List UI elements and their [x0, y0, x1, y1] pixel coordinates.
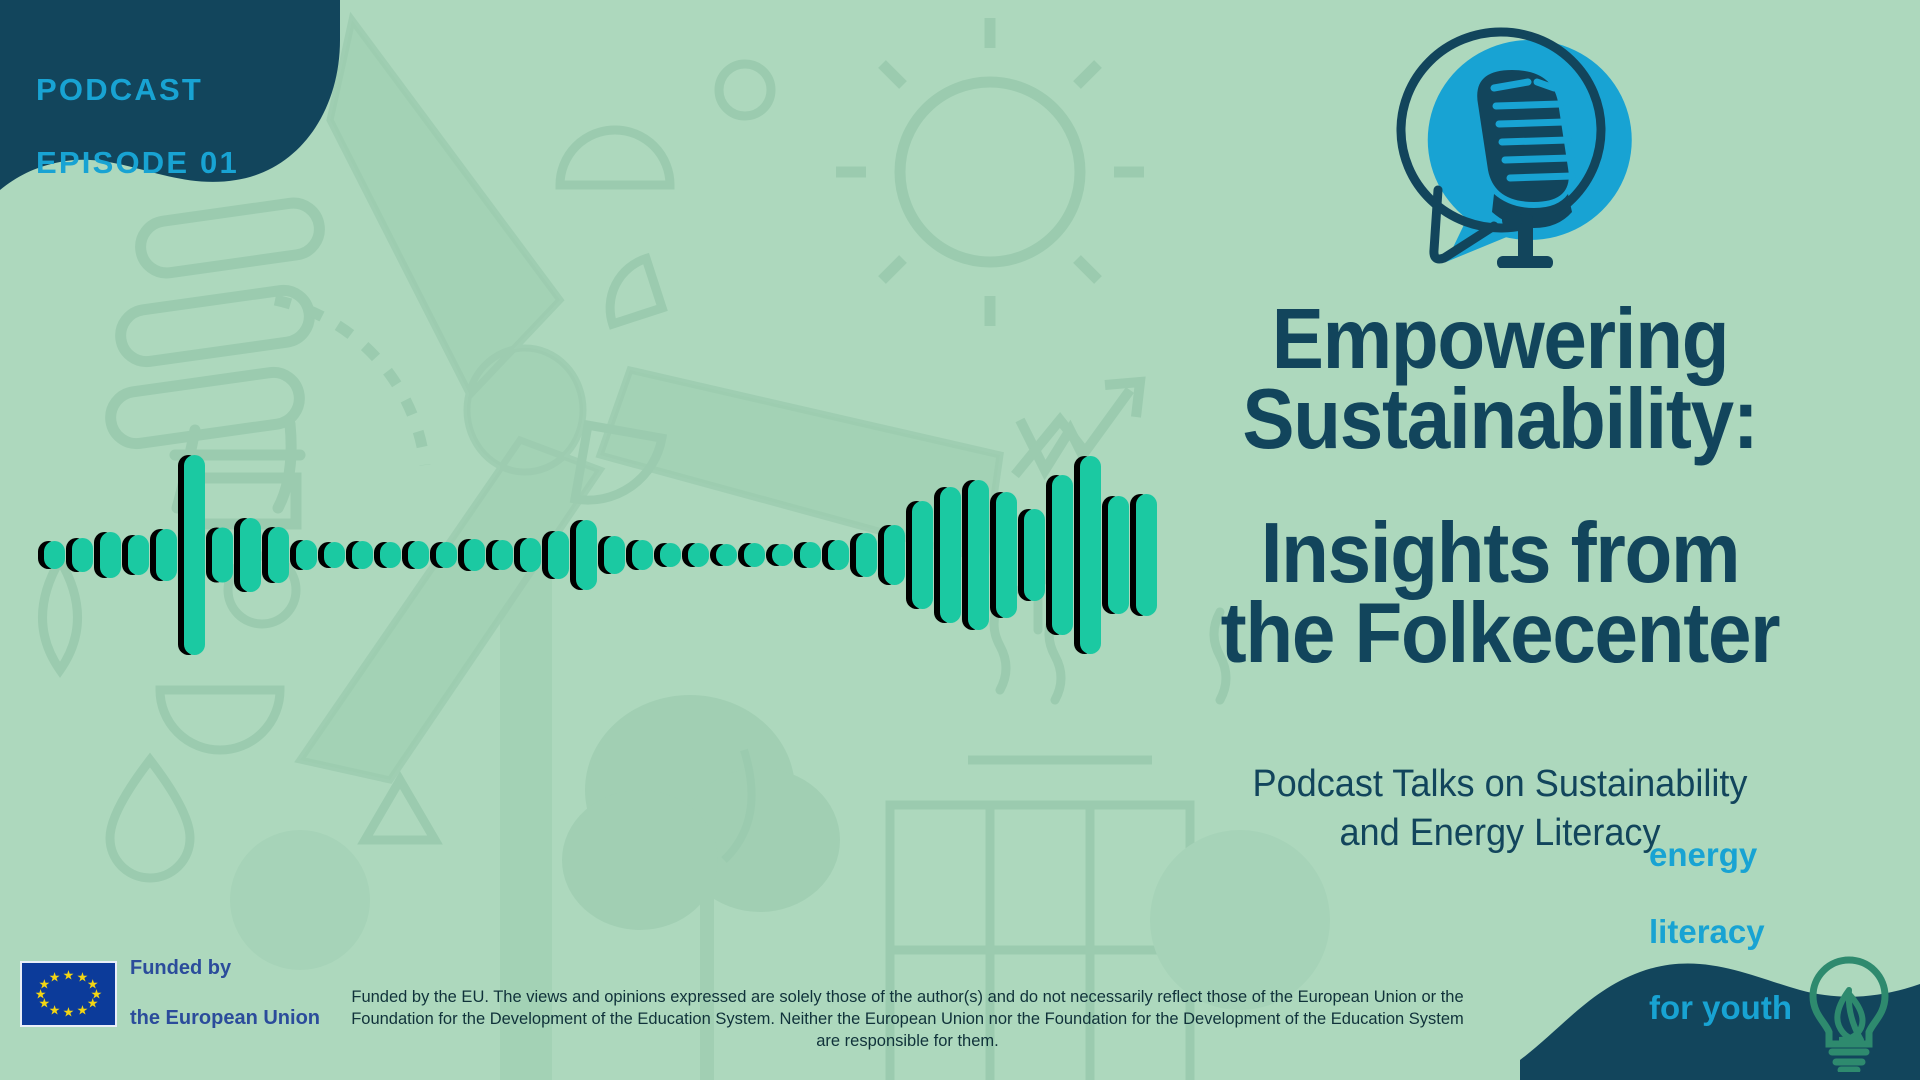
lightbulb-leaf-icon: [1794, 954, 1904, 1072]
waveform-bar-fill: [968, 480, 989, 630]
eu-funding-label: Funded by the European Union: [130, 931, 320, 1056]
waveform-bar-fill: [436, 542, 457, 568]
waveform-bar-fill: [688, 543, 709, 567]
brand-line2: literacy: [1649, 913, 1792, 951]
waveform-bar: [352, 541, 373, 569]
waveform-bar: [184, 455, 205, 655]
waveform-bar-fill: [576, 520, 597, 590]
waveform-bar: [464, 539, 485, 571]
waveform-bar-fill: [716, 544, 737, 566]
waveform-bar-fill: [352, 541, 373, 569]
waveform-bar: [632, 540, 653, 570]
waveform-bar: [744, 543, 765, 567]
waveform-bar: [940, 487, 961, 623]
waveform-bar: [968, 480, 989, 630]
waveform-bar: [212, 528, 233, 583]
eu-star-icon: ★: [87, 996, 99, 1009]
waveform-bar: [296, 540, 317, 570]
waveform-bar: [772, 544, 793, 566]
waveform-bar: [128, 535, 149, 575]
eu-funding-line2: the European Union: [130, 1006, 320, 1031]
waveform-bar: [240, 518, 261, 592]
waveform-bar-fill: [604, 536, 625, 574]
eu-star-icon: ★: [49, 971, 61, 984]
waveform-bar: [996, 492, 1017, 618]
waveform-bar: [688, 543, 709, 567]
funding-disclaimer: Funded by the EU. The views and opinions…: [350, 986, 1465, 1052]
waveform-bar-fill: [492, 540, 513, 570]
waveform-bar: [548, 531, 569, 579]
waveform-bar-fill: [660, 543, 681, 567]
waveform-bar-fill: [632, 540, 653, 570]
title-line-1: Empowering: [1127, 300, 1872, 380]
tree-branch-decor: [724, 750, 752, 860]
eu-star-icon: ★: [49, 1003, 61, 1016]
waveform-bar-fill: [324, 542, 345, 568]
waveform-bar: [520, 538, 541, 572]
waveform-bar: [408, 541, 429, 569]
eu-star-icon: ★: [63, 968, 75, 981]
waveform-bar-fill: [940, 487, 961, 623]
waveform-bar: [716, 544, 737, 566]
eu-funding-block: ★★★★★★★★★★★★ Funded by the European Unio…: [20, 931, 320, 1056]
waveform-bar-fill: [296, 540, 317, 570]
waveform-bar-fill: [912, 501, 933, 609]
episode-badge-line2: EPISODE 01: [36, 145, 239, 181]
waveform-bar: [884, 525, 905, 585]
podcast-cover: PODCAST EPISODE 01: [0, 0, 1920, 1080]
waveform-bar-fill: [548, 531, 569, 579]
waveform-bar-fill: [128, 535, 149, 575]
waveform-bar-fill: [72, 538, 93, 572]
waveform-bar: [492, 540, 513, 570]
waveform-bar: [576, 520, 597, 590]
waveform-bar-fill: [800, 542, 821, 568]
waveform-bar-fill: [520, 538, 541, 572]
waveform-bar-fill: [744, 543, 765, 567]
circle-outline-decor: [719, 64, 771, 116]
waveform-bar: [660, 543, 681, 567]
waveform-bar-fill: [268, 527, 289, 583]
waveform-bar: [380, 542, 401, 568]
brand-line3: for youth: [1649, 989, 1792, 1027]
waveform-bar-fill: [212, 528, 233, 583]
triangle-decor: [365, 780, 435, 840]
waveform-bar: [268, 527, 289, 583]
eu-star-icon: ★: [77, 1003, 89, 1016]
waveform-bar-fill: [1024, 509, 1045, 601]
waveform-bar: [156, 529, 177, 581]
waveform-bar-fill: [184, 455, 205, 655]
episode-badge-line1: PODCAST: [36, 72, 239, 108]
waveform-bar: [856, 533, 877, 577]
brand-label: energy literacy for youth: [1649, 798, 1792, 1066]
waveform-bar-fill: [996, 492, 1017, 618]
eu-funding-line1: Funded by: [130, 956, 320, 981]
waveform-bar: [828, 540, 849, 570]
waveform-bar: [1024, 509, 1045, 601]
waveform-bar-fill: [240, 518, 261, 592]
waveform-bar: [604, 536, 625, 574]
waveform-bar-fill: [884, 525, 905, 585]
waveform-bar: [324, 542, 345, 568]
waveform-bar: [1052, 475, 1073, 635]
waveform-bar: [912, 501, 933, 609]
waveform-bar-fill: [828, 540, 849, 570]
audio-waveform: [44, 410, 1054, 700]
waveform-bar-fill: [408, 541, 429, 569]
eu-flag-icon: ★★★★★★★★★★★★: [20, 961, 117, 1027]
microphone-speech-bubble-icon: [1382, 18, 1644, 268]
waveform-bar: [72, 538, 93, 572]
waveform-bar: [100, 532, 121, 578]
title-line-4: the Folkecenter: [1127, 594, 1872, 674]
waveform-bar-fill: [1052, 475, 1073, 635]
eu-star-icon: ★: [63, 1006, 75, 1019]
title-line-3: Insights from: [1127, 514, 1872, 594]
sun-decor: [836, 18, 1144, 326]
waveform-bar-fill: [44, 541, 65, 569]
waveform-bar-fill: [464, 539, 485, 571]
droplet-decor: [110, 760, 190, 878]
waveform-bar-fill: [772, 544, 793, 566]
page-title: Empowering Sustainability: Insights from…: [1095, 300, 1905, 674]
waveform-bar-fill: [100, 532, 121, 578]
waveform-bar: [44, 541, 65, 569]
episode-badge-label: PODCAST EPISODE 01: [36, 36, 239, 217]
waveform-bar: [436, 542, 457, 568]
brand-line1: energy: [1649, 836, 1792, 874]
title-line-2: Sustainability:: [1127, 380, 1872, 460]
waveform-bar-fill: [156, 529, 177, 581]
waveform-bar: [800, 542, 821, 568]
waveform-bar-fill: [856, 533, 877, 577]
waveform-bar-fill: [380, 542, 401, 568]
